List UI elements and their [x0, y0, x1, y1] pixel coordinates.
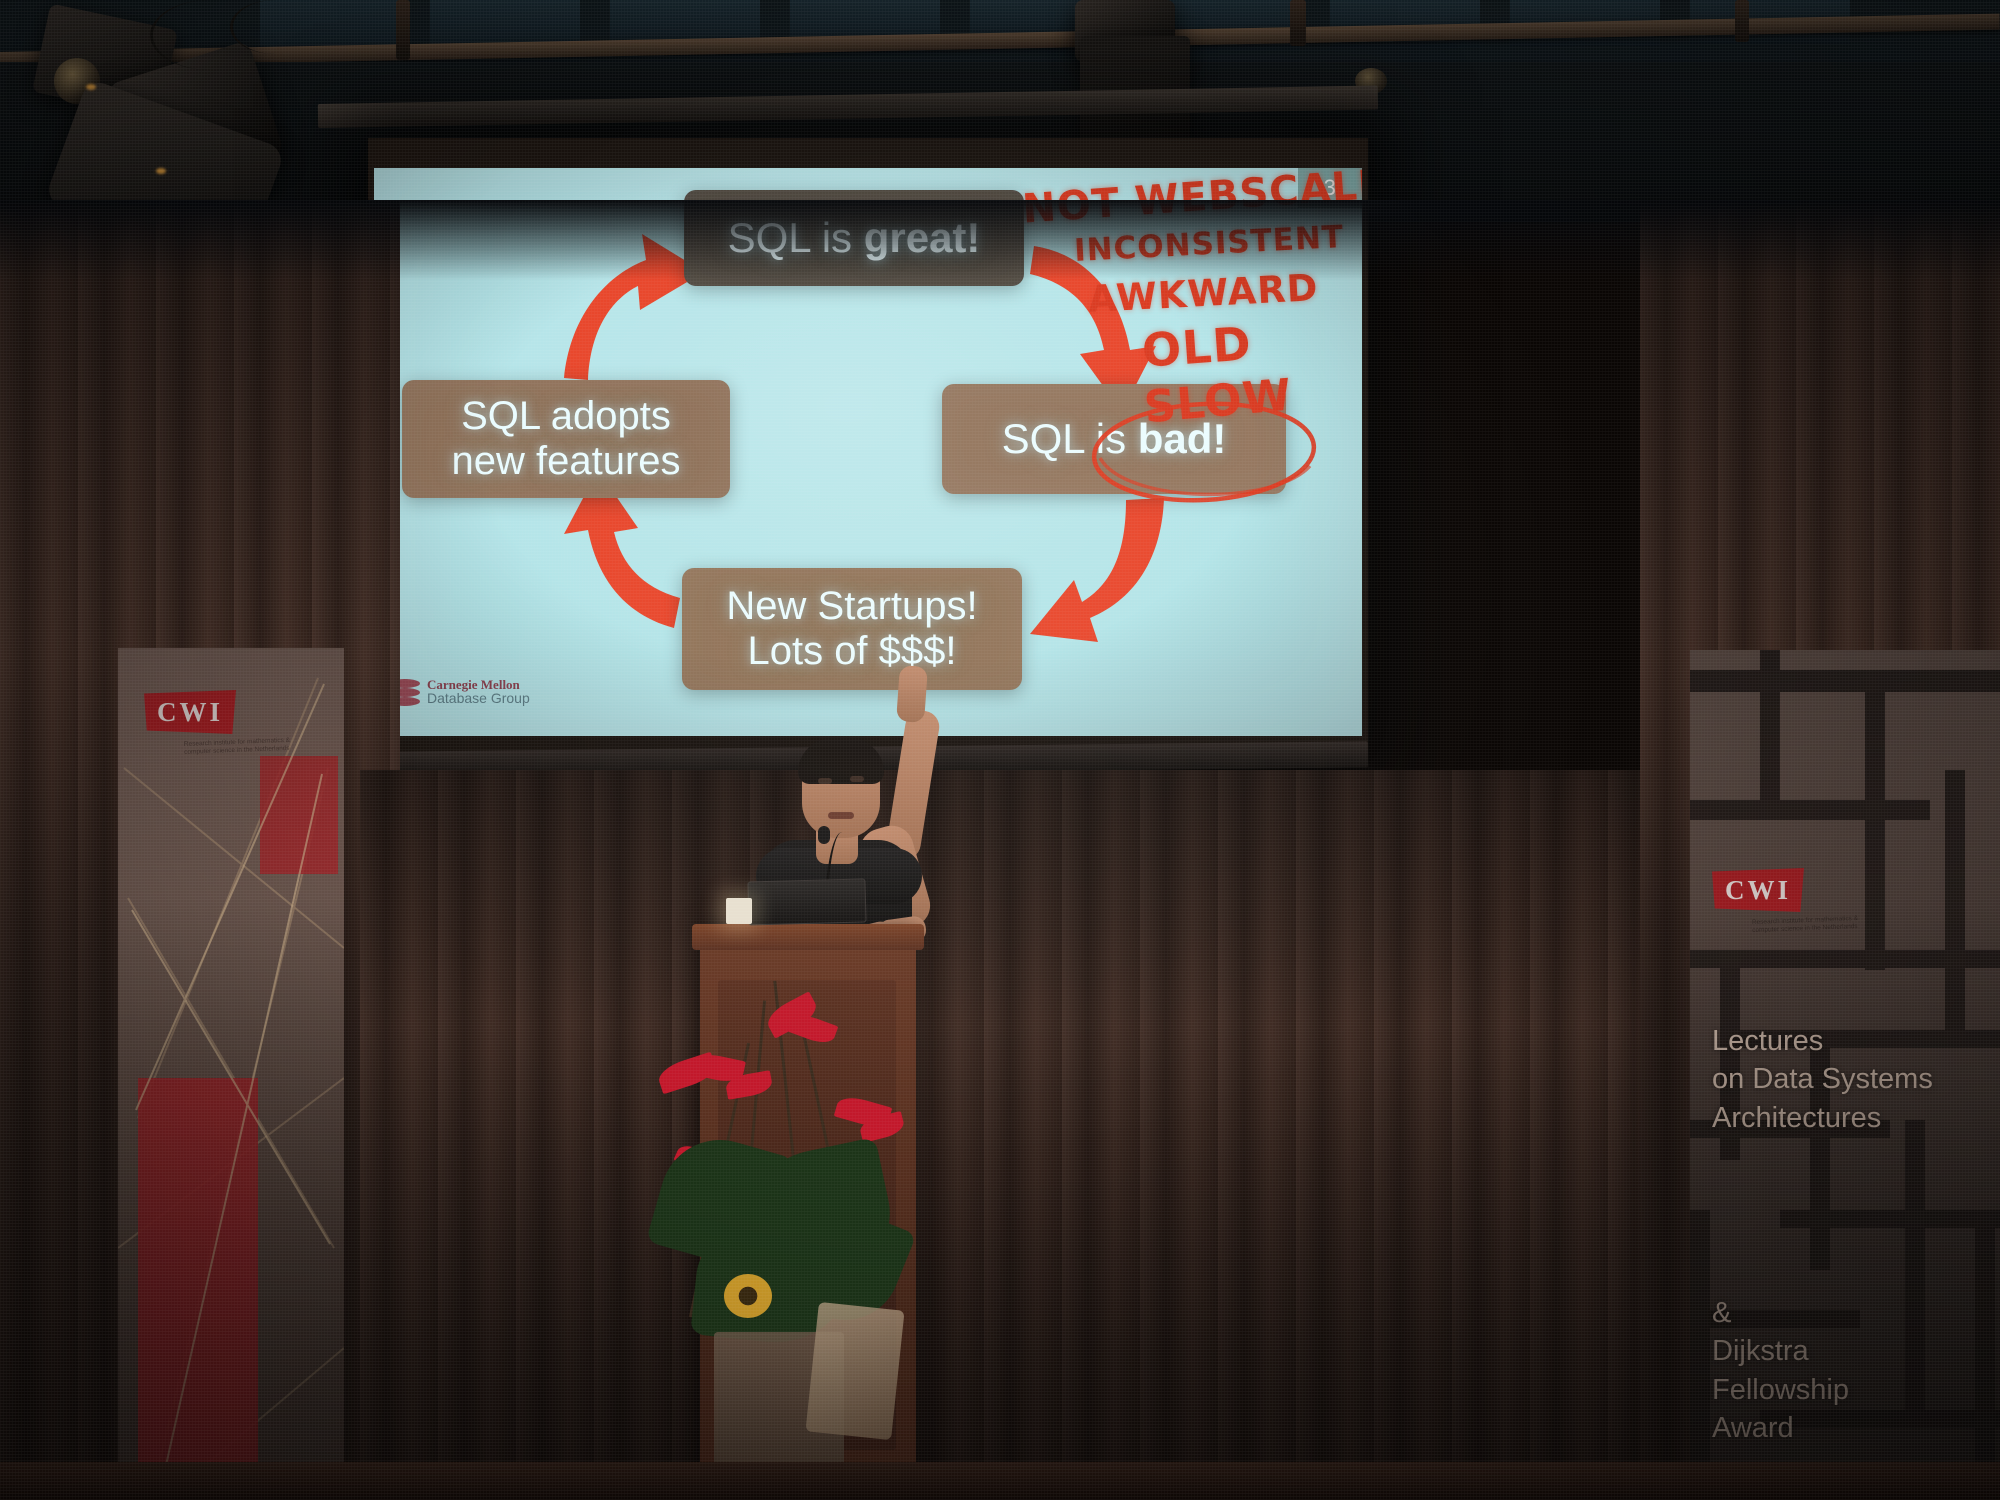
podium-top-surface [692, 924, 924, 950]
annotation-old: OLD [1140, 316, 1253, 378]
box-adopts-line2: new features [451, 439, 680, 484]
flower-petal [788, 1011, 839, 1047]
cmu-database-group-logo: Carnegie Mellon Database Group [390, 678, 530, 706]
indicator-led [156, 168, 166, 174]
stage-floor [0, 1462, 2000, 1500]
box-startups-line1: New Startups! [726, 584, 977, 629]
speaker-hair [798, 738, 884, 784]
slide-box-sql-adopts-new-features: SQL adopts new features [402, 380, 730, 498]
banner-left-shadow [118, 648, 344, 1488]
banner-right-shadow [1690, 650, 2000, 1500]
banner-left-inner: CWI Research institute for mathematics &… [118, 648, 344, 1488]
box-adopts-line1: SQL adopts [461, 394, 671, 439]
podium-lamp [726, 898, 752, 924]
speaker-eye-left [818, 778, 832, 784]
box-startups-line2: Lots of $$$! [747, 629, 956, 674]
ceiling-truss-upright [1290, 0, 1306, 46]
banner-right-inner: CWI Research institute for mathematics &… [1690, 650, 2000, 1500]
banner-left-cwi: CWI Research institute for mathematics &… [118, 648, 344, 1488]
slide-box-new-startups: New Startups! Lots of $$$! [682, 568, 1022, 690]
indicator-led [86, 84, 96, 90]
curtain-top-shadow [0, 200, 2000, 280]
flower-wrap-paper [805, 1302, 904, 1440]
speaker-eye-right [850, 776, 864, 782]
ceiling-truss-upright [1735, 0, 1749, 42]
cmu-logo-line2: Database Group [427, 691, 530, 705]
speaker-mouth [828, 812, 854, 819]
speaker-raised-hand [896, 665, 928, 723]
laptop [747, 878, 866, 925]
banner-right-lectures: CWI Research institute for mathematics &… [1690, 650, 2000, 1500]
flower-arrangement [640, 960, 920, 1500]
cmu-logo-line1: Carnegie Mellon [427, 678, 530, 691]
sunflower [724, 1274, 772, 1318]
ceiling-cable [230, 0, 320, 54]
conference-photo-scene: 3 SQL is great! [0, 0, 2000, 1500]
ceiling-truss-upright [396, 0, 410, 60]
microphone-capsule [818, 826, 830, 844]
